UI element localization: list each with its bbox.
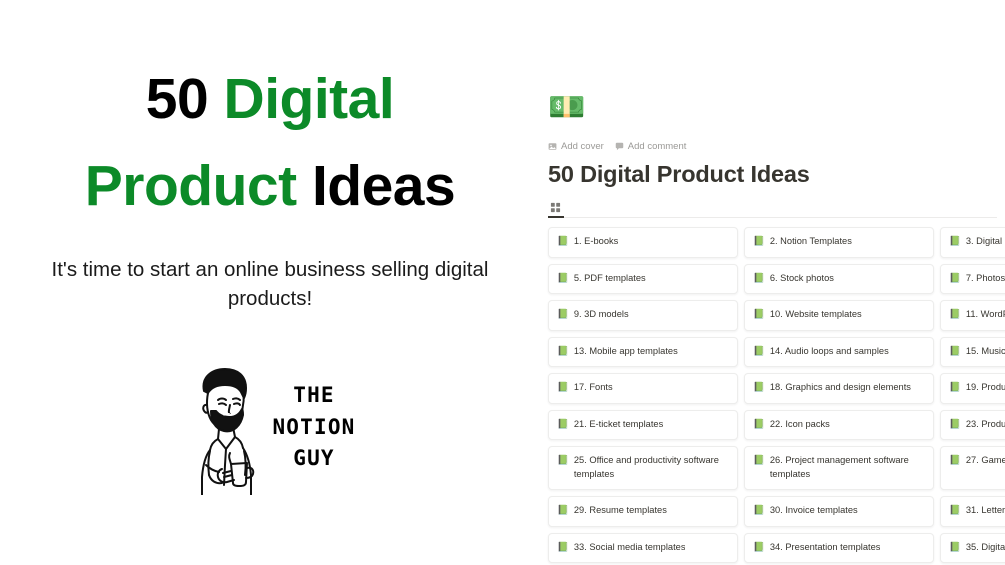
idea-card[interactable]: 📗6. Stock photos: [744, 264, 934, 295]
green-book-icon: 📗: [949, 504, 961, 517]
add-cover-label: Add cover: [561, 141, 604, 152]
green-book-icon: 📗: [557, 272, 569, 285]
idea-card[interactable]: 📗26. Project management software templat…: [744, 446, 934, 490]
green-book-icon: 📗: [949, 381, 961, 394]
idea-card[interactable]: 📗35. Digital: [940, 533, 1005, 564]
idea-card-label: 13. Mobile app templates: [574, 345, 678, 359]
database-view-bar: [548, 197, 997, 218]
brand-wordmark: THE NOTION GUY: [272, 380, 355, 482]
dollar-banknote-emoji[interactable]: 💵: [548, 93, 1005, 131]
idea-card-label: 33. Social media templates: [574, 541, 686, 555]
idea-card[interactable]: 📗19. Produc: [940, 373, 1005, 404]
idea-card[interactable]: 📗23. Produc: [940, 410, 1005, 441]
idea-card-label: 9. 3D models: [574, 308, 629, 322]
idea-card-label: 26. Project management software template…: [770, 454, 925, 481]
idea-card-label: 22. Icon packs: [770, 418, 830, 432]
notion-page-panel: 💵 Add cover Add comment 50 Digital Produ…: [540, 0, 1005, 565]
green-book-icon: 📗: [949, 541, 961, 554]
idea-card-label: 7. Photosh: [966, 272, 1005, 286]
headline-part-digital: Digital: [224, 67, 395, 131]
green-book-icon: 📗: [753, 381, 765, 394]
wordmark-line-the: THE: [272, 380, 355, 412]
idea-card[interactable]: 📗3. Digital a: [940, 227, 1005, 258]
idea-card-label: 10. Website templates: [770, 308, 862, 322]
green-book-icon: 📗: [557, 541, 569, 554]
wordmark-line-guy: GUY: [272, 443, 355, 475]
green-book-icon: 📗: [753, 345, 765, 358]
idea-card-label: 25. Office and productivity software tem…: [574, 454, 729, 481]
gallery-view-icon: [550, 202, 561, 213]
idea-card-label: 14. Audio loops and samples: [770, 345, 889, 359]
comment-icon: [615, 142, 624, 151]
add-comment-button[interactable]: Add comment: [615, 141, 687, 152]
idea-card-label: 11. WordPr: [966, 308, 1005, 322]
idea-card-label: 1. E-books: [574, 235, 618, 249]
promo-headline: 50 Digital Product Ideas: [35, 56, 505, 229]
green-book-icon: 📗: [949, 454, 961, 467]
green-book-icon: 📗: [949, 235, 961, 248]
green-book-icon: 📗: [557, 418, 569, 431]
idea-card-label: 27. Game: [966, 454, 1005, 468]
wordmark-line-notion: NOTION: [272, 412, 355, 444]
page-actions-bar: Add cover Add comment: [548, 139, 1005, 153]
green-book-icon: 📗: [557, 345, 569, 358]
green-book-icon: 📗: [557, 235, 569, 248]
idea-card[interactable]: 📗7. Photosh: [940, 264, 1005, 295]
idea-card-label: 6. Stock photos: [770, 272, 834, 286]
idea-card[interactable]: 📗33. Social media templates: [548, 533, 738, 564]
idea-card-label: 30. Invoice templates: [770, 504, 858, 518]
green-book-icon: 📗: [557, 454, 569, 467]
headline-part-product: Product: [85, 154, 312, 218]
idea-card[interactable]: 📗15. Music: [940, 337, 1005, 368]
idea-card[interactable]: 📗30. Invoice templates: [744, 496, 934, 527]
gallery-view-tab[interactable]: [548, 202, 564, 217]
idea-card[interactable]: 📗1. E-books: [548, 227, 738, 258]
green-book-icon: 📗: [753, 418, 765, 431]
green-book-icon: 📗: [557, 381, 569, 394]
idea-card-label: 5. PDF templates: [574, 272, 646, 286]
headline-part-50: 50: [146, 67, 224, 131]
idea-card[interactable]: 📗22. Icon packs: [744, 410, 934, 441]
idea-card[interactable]: 📗11. WordPr: [940, 300, 1005, 331]
idea-card[interactable]: 📗31. Letterh: [940, 496, 1005, 527]
idea-card-label: 3. Digital a: [966, 235, 1005, 249]
green-book-icon: 📗: [557, 308, 569, 321]
idea-card[interactable]: 📗5. PDF templates: [548, 264, 738, 295]
screenshot-root: 50 Digital Product Ideas It's time to st…: [0, 0, 1005, 565]
idea-card[interactable]: 📗27. Game: [940, 446, 1005, 490]
headline-part-ideas: Ideas: [312, 154, 455, 218]
green-book-icon: 📗: [949, 308, 961, 321]
green-book-icon: 📗: [753, 541, 765, 554]
idea-card-label: 2. Notion Templates: [770, 235, 852, 249]
idea-card[interactable]: 📗14. Audio loops and samples: [744, 337, 934, 368]
green-book-icon: 📗: [949, 418, 961, 431]
image-icon: [548, 142, 557, 151]
idea-card-label: 19. Produc: [966, 381, 1005, 395]
promo-panel: 50 Digital Product Ideas It's time to st…: [0, 0, 540, 565]
idea-card[interactable]: 📗21. E-ticket templates: [548, 410, 738, 441]
idea-card-label: 17. Fonts: [574, 381, 613, 395]
green-book-icon: 📗: [949, 345, 961, 358]
green-book-icon: 📗: [753, 454, 765, 467]
idea-card-label: 34. Presentation templates: [770, 541, 881, 555]
idea-card-label: 15. Music: [966, 345, 1005, 359]
idea-card[interactable]: 📗17. Fonts: [548, 373, 738, 404]
green-book-icon: 📗: [753, 308, 765, 321]
idea-card[interactable]: 📗10. Website templates: [744, 300, 934, 331]
page-title[interactable]: 50 Digital Product Ideas: [548, 160, 1005, 188]
idea-card-label: 23. Produc: [966, 418, 1005, 432]
idea-card[interactable]: 📗29. Resume templates: [548, 496, 738, 527]
idea-card[interactable]: 📗2. Notion Templates: [744, 227, 934, 258]
idea-card[interactable]: 📗34. Presentation templates: [744, 533, 934, 564]
add-comment-label: Add comment: [628, 141, 687, 152]
idea-card[interactable]: 📗9. 3D models: [548, 300, 738, 331]
notion-guy-illustration-icon: [184, 365, 266, 495]
idea-card-grid: 📗1. E-books📗2. Notion Templates📗3. Digit…: [548, 227, 1005, 565]
idea-card[interactable]: 📗18. Graphics and design elements: [744, 373, 934, 404]
green-book-icon: 📗: [557, 504, 569, 517]
idea-card-label: 31. Letterh: [966, 504, 1005, 518]
green-book-icon: 📗: [753, 235, 765, 248]
brand-logo: THE NOTION GUY: [184, 365, 355, 495]
idea-card-label: 29. Resume templates: [574, 504, 667, 518]
idea-card-label: 35. Digital: [966, 541, 1005, 555]
promo-subtitle: It's time to start an online business se…: [50, 255, 490, 313]
green-book-icon: 📗: [753, 272, 765, 285]
idea-card[interactable]: 📗13. Mobile app templates: [548, 337, 738, 368]
idea-card-label: 21. E-ticket templates: [574, 418, 663, 432]
add-cover-button[interactable]: Add cover: [548, 141, 604, 152]
idea-card[interactable]: 📗25. Office and productivity software te…: [548, 446, 738, 490]
idea-card-label: 18. Graphics and design elements: [770, 381, 911, 395]
green-book-icon: 📗: [753, 504, 765, 517]
green-book-icon: 📗: [949, 272, 961, 285]
